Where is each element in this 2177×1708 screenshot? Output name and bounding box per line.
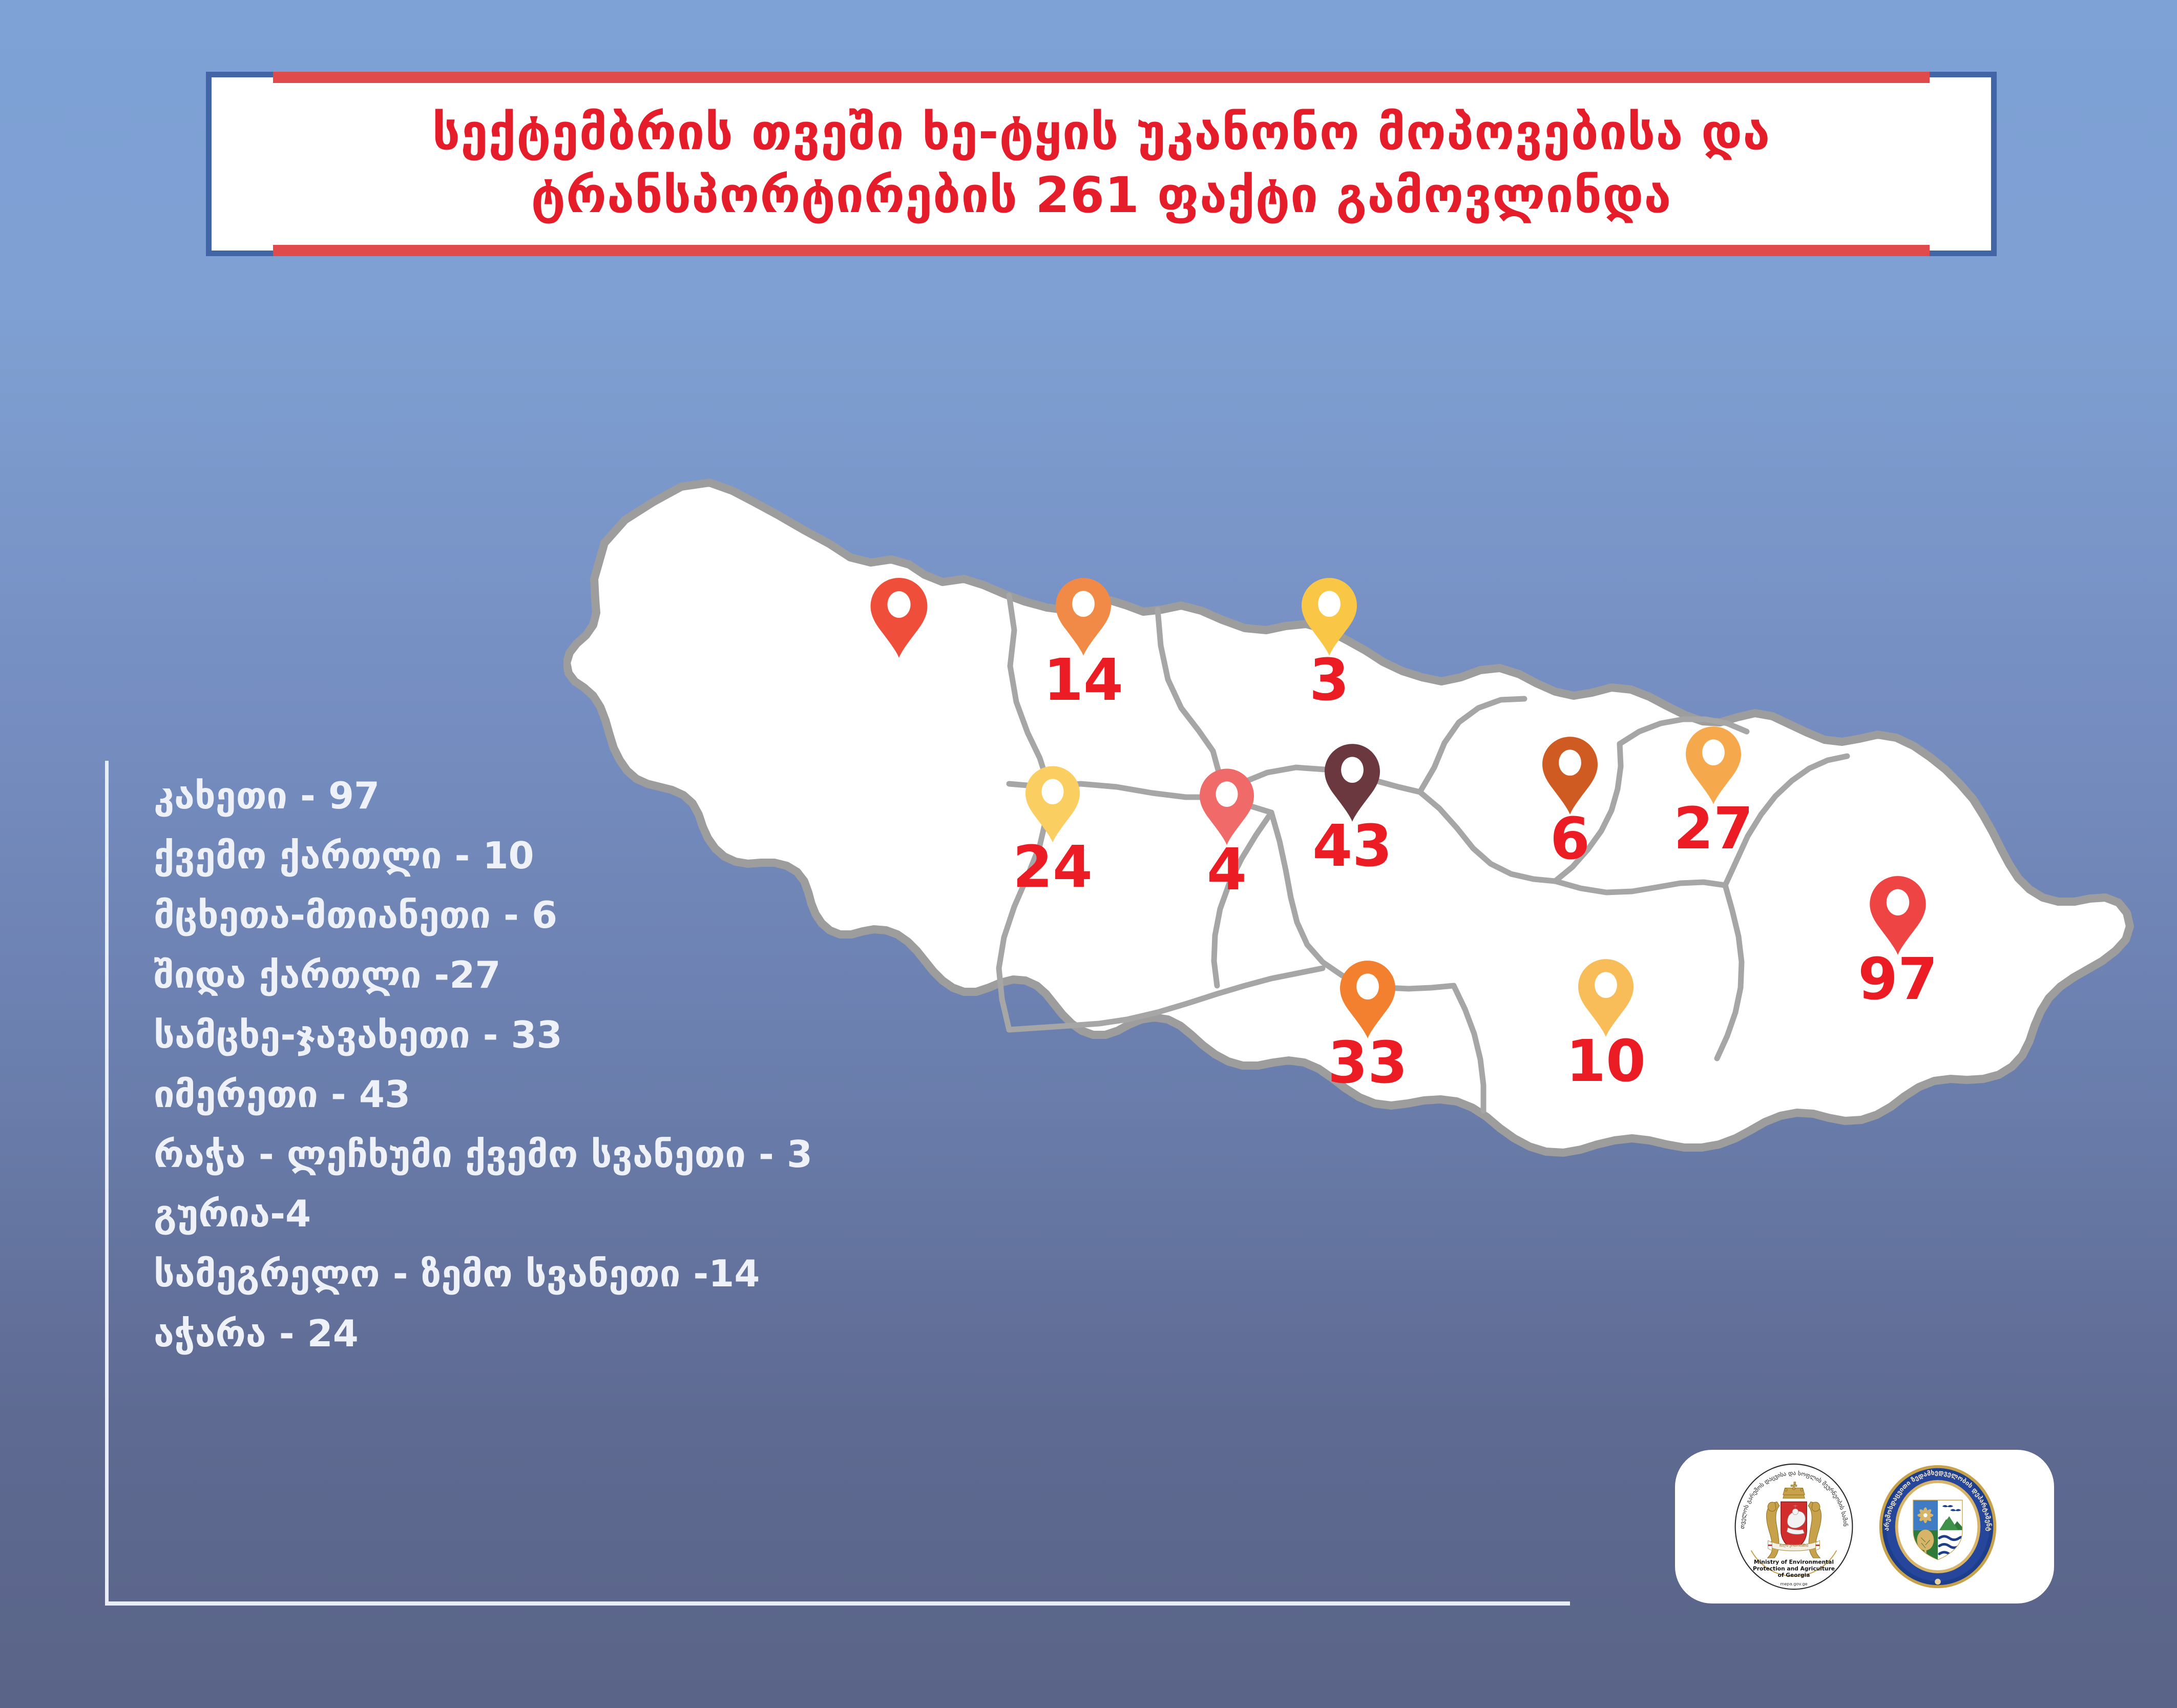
kakheti-marker[interactable]: 97 (1870, 876, 1926, 955)
map-pin-icon (1686, 726, 1741, 804)
title-line-2: ტრანსპორტირების 261 ფაქტი გამოვლინდა (531, 164, 1672, 227)
legend-row-9: აჭარა - 24 (154, 1304, 1567, 1364)
legend-row-2: მცხეთა-მთიანეთი - 6 (154, 885, 1567, 945)
marker-count-label: 14 (1043, 652, 1123, 709)
legend-row-0: კახეთი - 97 (154, 766, 1567, 826)
logo-en-line1: Ministry of Environmental (1754, 1559, 1834, 1566)
footer-logo-card: ძალა ერთობაშია საქართველოს გარემოს დაცვი… (1675, 1450, 2054, 1603)
legend-row-7: გურია-4 (154, 1184, 1567, 1244)
legend-row-8: სამეგრელო - ზემო სვანეთი -14 (154, 1244, 1567, 1304)
map-pin-icon (1870, 876, 1926, 955)
marker-count-label: 97 (1858, 951, 1938, 1008)
region-legend-list: კახეთი - 97ქვემო ქართლი - 10მცხეთა-მთიან… (154, 766, 1567, 1363)
map-pin-icon (1302, 578, 1357, 656)
legend-vertical-rule (105, 761, 109, 1605)
title-line-1: სექტემბრის თვეში ხე-ტყის უკანონო მოპოვებ… (432, 101, 1771, 164)
kvemo-kartli-marker[interactable]: 10 (1578, 959, 1634, 1037)
marker-count-label: 27 (1673, 800, 1753, 858)
legend-row-5: იმერეთი - 43 (154, 1065, 1567, 1124)
legend-row-6: რაჭა - ლეჩხუმი ქვემო სვანეთი - 3 (154, 1124, 1567, 1184)
samegrelo-zemo-svaneti-pin[interactable] (870, 578, 928, 658)
logo-en-line2: Protection and Agriculture (1753, 1565, 1835, 1572)
map-pin-icon (1056, 578, 1111, 656)
legend-row-4: სამცხე-ჯავახეთი - 33 (154, 1005, 1567, 1065)
environmental-supervision-department-logo: გარემოსდაცვითი ზედამხედველობის დეპარტამე… (1876, 1465, 2000, 1589)
map-pin-icon (1578, 959, 1634, 1037)
samegrelo-marker[interactable]: 14 (1056, 578, 1111, 656)
logo-url: mepa.gov.ge (1780, 1581, 1807, 1586)
racha-lechkhumi-marker[interactable]: 3 (1302, 578, 1357, 656)
map-pin-icon (870, 578, 928, 658)
logo-ribbon-text: ძალა ერთობაშია (1780, 1543, 1809, 1548)
marker-count-label: 10 (1566, 1033, 1646, 1090)
flower-icon (1917, 1507, 1933, 1523)
legend-row-1: ქვემო ქართლი - 10 (154, 826, 1567, 886)
legend-row-3: შიდა ქართლი -27 (154, 945, 1567, 1005)
legend-horizontal-rule (105, 1601, 1570, 1606)
title-box: სექტემბრის თვეში ხე-ტყის უკანონო მოპოვებ… (206, 72, 1997, 256)
logo-en-line3: of Georgia (1778, 1572, 1810, 1578)
shida-kartli-marker[interactable]: 27 (1686, 726, 1741, 804)
infographic-poster: სექტემბრის თვეში ხე-ტყის უკანონო მოპოვებ… (0, 0, 2177, 1708)
page-title: სექტემბრის თვეში ხე-ტყის უკანონო მოპოვებ… (212, 77, 1991, 251)
ministry-of-environmental-protection-logo: ძალა ერთობაშია საქართველოს გარემოს დაცვი… (1729, 1462, 1858, 1591)
marker-count-label: 3 (1309, 652, 1349, 709)
